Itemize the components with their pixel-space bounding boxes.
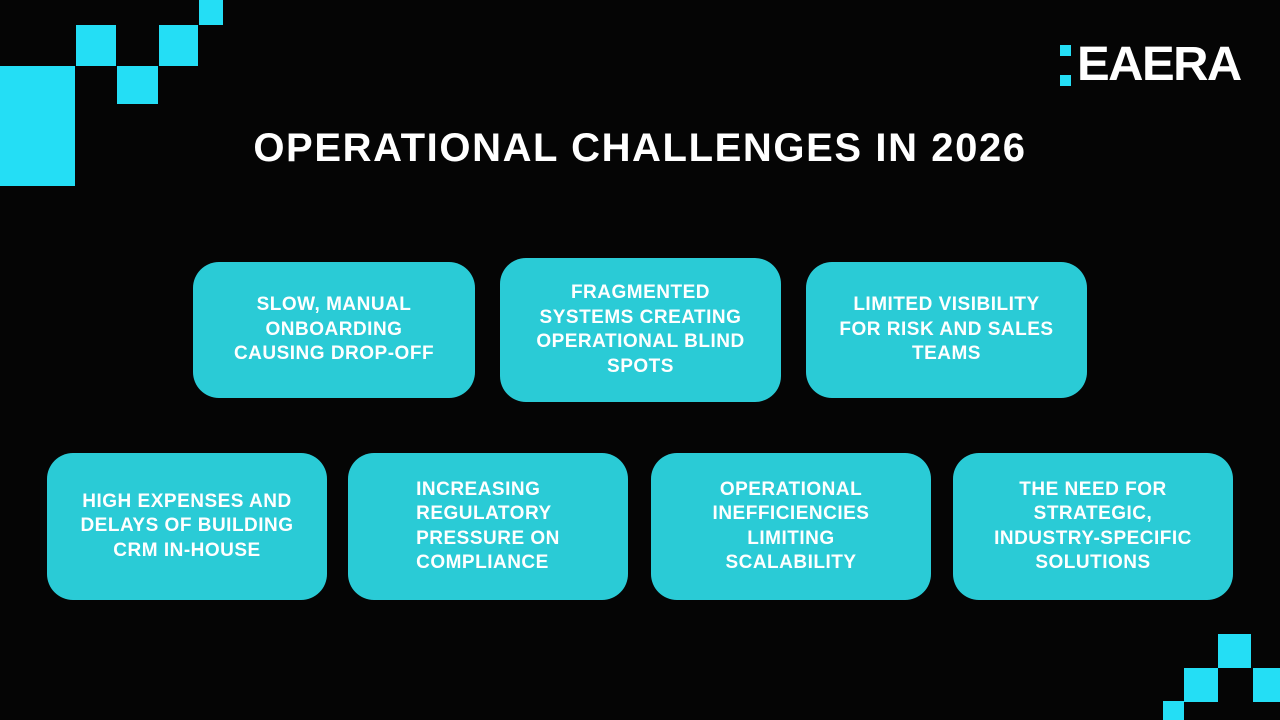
slide-canvas: EAERA OPERATIONAL CHALLENGES IN 2026 SLO… bbox=[0, 0, 1280, 720]
challenge-card-3[interactable]: LIMITED VISIBILITY FOR RISK AND SALES TE… bbox=[806, 262, 1087, 398]
deco-square-c bbox=[159, 25, 198, 66]
challenge-card-4[interactable]: HIGH EXPENSES AND DELAYS OF BUILDING CRM… bbox=[47, 453, 327, 600]
brand-logo: EAERA bbox=[1058, 36, 1243, 94]
logo-square-bottom-icon bbox=[1060, 75, 1071, 86]
logo-square-top-icon bbox=[1060, 45, 1071, 56]
challenge-card-1[interactable]: SLOW, MANUAL ONBOARDING CAUSING DROP-OFF bbox=[193, 262, 475, 398]
challenge-card-6[interactable]: OPERATIONAL INEFFICIENCIES LIMITING SCAL… bbox=[651, 453, 931, 600]
challenge-card-7[interactable]: THE NEED FOR STRATEGIC, INDUSTRY-SPECIFI… bbox=[953, 453, 1233, 600]
deco-square-d bbox=[199, 0, 223, 25]
challenge-card-7-label: THE NEED FOR STRATEGIC, INDUSTRY-SPECIFI… bbox=[994, 478, 1192, 576]
challenge-card-6-label: OPERATIONAL INEFFICIENCIES LIMITING SCAL… bbox=[713, 478, 870, 576]
deco-square-b bbox=[117, 66, 158, 104]
challenge-card-1-label: SLOW, MANUAL ONBOARDING CAUSING DROP-OFF bbox=[234, 293, 434, 367]
deco-square-g bbox=[1253, 668, 1280, 702]
challenge-card-4-label: HIGH EXPENSES AND DELAYS OF BUILDING CRM… bbox=[80, 490, 293, 564]
deco-square-h bbox=[1163, 701, 1184, 720]
deco-square-a bbox=[76, 25, 116, 66]
challenge-card-2[interactable]: FRAGMENTED SYSTEMS CREATING OPERATIONAL … bbox=[500, 258, 781, 402]
challenge-card-2-label: FRAGMENTED SYSTEMS CREATING OPERATIONAL … bbox=[536, 281, 744, 379]
challenge-card-5[interactable]: INCREASING REGULATORY PRESSURE ON COMPLI… bbox=[348, 453, 628, 600]
logo-square-marks-icon bbox=[1058, 41, 1074, 89]
challenge-card-5-label: INCREASING REGULATORY PRESSURE ON COMPLI… bbox=[416, 478, 560, 576]
deco-square-f bbox=[1184, 668, 1218, 702]
deco-square-e bbox=[1218, 634, 1251, 668]
page-title: OPERATIONAL CHALLENGES IN 2026 bbox=[0, 124, 1280, 172]
challenge-card-3-label: LIMITED VISIBILITY FOR RISK AND SALES TE… bbox=[839, 293, 1053, 367]
logo-wordmark: EAERA bbox=[1077, 41, 1241, 89]
